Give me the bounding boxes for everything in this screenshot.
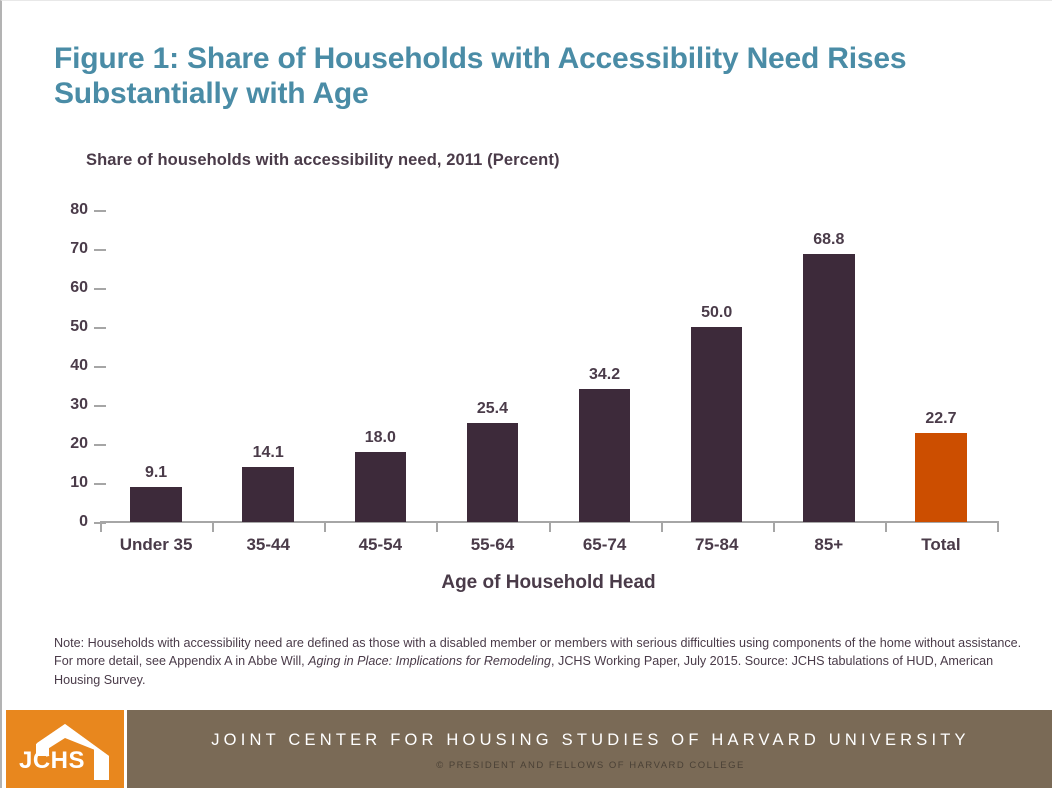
x-axis-category-label: 55-64	[436, 535, 548, 555]
bar[interactable]	[691, 327, 743, 522]
footnote-text-part2: , JCHS Working Paper, July 2015.	[551, 654, 741, 668]
y-axis-tick-label: 20	[44, 435, 88, 453]
bar-value-label: 25.4	[436, 400, 548, 418]
bar[interactable]	[803, 254, 855, 522]
x-axis-tick	[997, 521, 999, 532]
bar[interactable]	[130, 487, 182, 522]
bar[interactable]	[355, 452, 407, 522]
footnote-citation-italic: Aging in Place: Implications for Remodel…	[308, 654, 551, 668]
bar-value-label: 50.0	[661, 304, 773, 322]
footer-copyright: © PRESIDENT AND FELLOWS OF HARVARD COLLE…	[436, 760, 745, 771]
bar-column: 50.0	[661, 210, 773, 522]
bar-value-label: 18.0	[324, 429, 436, 447]
y-axis-tick-label: 80	[44, 201, 88, 219]
bar[interactable]	[242, 467, 294, 522]
bar-value-label: 68.8	[773, 231, 885, 249]
bar-column: 68.8	[773, 210, 885, 522]
x-axis-tick	[100, 521, 102, 532]
footer-content: JOINT CENTER FOR HOUSING STUDIES OF HARV…	[127, 710, 1052, 788]
x-axis-tick	[773, 521, 775, 532]
bar-value-label: 9.1	[100, 464, 212, 482]
y-axis-tick-label: 60	[44, 279, 88, 297]
bar-value-label: 14.1	[212, 444, 324, 462]
page-footer: JCHS JOINT CENTER FOR HOUSING STUDIES OF…	[2, 705, 1052, 788]
y-axis-tick-label: 50	[44, 318, 88, 336]
figure-title: Figure 1: Share of Households with Acces…	[54, 41, 994, 112]
jchs-logo-text: JCHS	[19, 747, 85, 775]
bar-column: 22.7	[885, 210, 997, 522]
bar-value-label: 22.7	[885, 410, 997, 428]
x-axis-tick	[324, 521, 326, 532]
x-axis-category-label: Total	[885, 535, 997, 555]
y-axis-tick-label: 70	[44, 240, 88, 258]
x-axis-tick	[436, 521, 438, 532]
x-axis-category-label: Under 35	[100, 535, 212, 555]
y-axis-tick-label: 10	[44, 474, 88, 492]
x-axis-category-label: 35-44	[212, 535, 324, 555]
x-axis-category-label: 65-74	[549, 535, 661, 555]
y-axis-tick-label: 30	[44, 396, 88, 414]
bar[interactable]	[579, 389, 631, 522]
bar-column: 14.1	[212, 210, 324, 522]
x-axis-category-label: 45-54	[324, 535, 436, 555]
x-axis-tick	[549, 521, 551, 532]
x-axis-category-label: 75-84	[661, 535, 773, 555]
slide-canvas: Figure 1: Share of Households with Acces…	[0, 0, 1052, 788]
x-axis-category-label: 85+	[773, 535, 885, 555]
bar-column: 25.4	[436, 210, 548, 522]
x-axis-tick	[661, 521, 663, 532]
y-axis-tick-label: 40	[44, 357, 88, 375]
x-axis-title: Age of Household Head	[100, 572, 997, 594]
bar-chart: 01020304050607080 9.114.118.025.434.250.…	[2, 199, 1052, 599]
bar-column: 18.0	[324, 210, 436, 522]
bar-column: 34.2	[549, 210, 661, 522]
plot-area: 9.114.118.025.434.250.068.822.7	[100, 210, 997, 522]
chart-subtitle: Share of households with accessibility n…	[86, 151, 560, 170]
bar[interactable]	[467, 423, 519, 522]
x-axis-tick	[885, 521, 887, 532]
jchs-logo: JCHS	[6, 710, 124, 788]
figure-footnote: Note: Households with accessibility need…	[54, 634, 1039, 689]
bar-column: 9.1	[100, 210, 212, 522]
y-axis-tick-label: 0	[44, 513, 88, 531]
footer-organization: JOINT CENTER FOR HOUSING STUDIES OF HARV…	[211, 731, 970, 750]
bar[interactable]	[915, 433, 967, 522]
bar-value-label: 34.2	[549, 366, 661, 384]
x-axis-tick	[212, 521, 214, 532]
